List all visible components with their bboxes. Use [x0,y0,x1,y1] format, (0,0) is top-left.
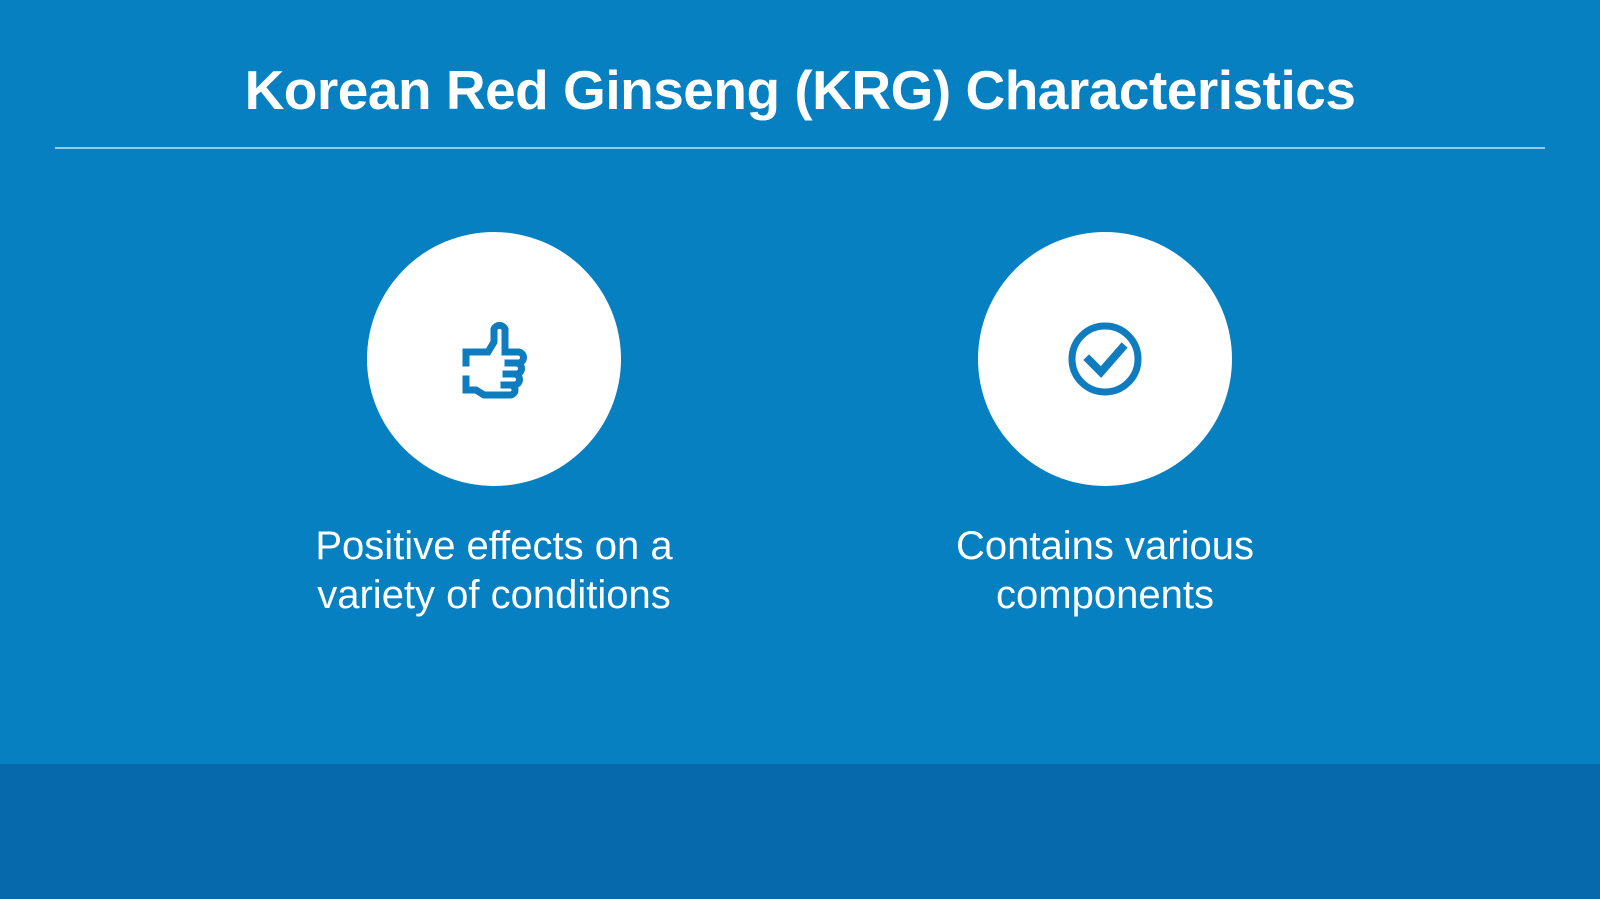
check-circle-icon [1063,317,1147,401]
card-caption: Contains various components [895,522,1315,620]
icon-circle-thumbs-up [367,232,621,486]
title-block: Korean Red Ginseng (KRG) Characteristics [0,62,1600,120]
content-cards: Positive effects on a variety of conditi… [0,232,1600,652]
footer-bar: Rosenberg, D., & Gershon, S. (2012). Pha… [0,764,1600,899]
card-positive-effects: Positive effects on a variety of conditi… [284,232,704,620]
title-divider [55,147,1545,149]
card-contains-components: Contains various components [895,232,1315,620]
card-caption: Positive effects on a variety of conditi… [284,522,704,620]
page-title: Korean Red Ginseng (KRG) Characteristics [0,62,1600,120]
slide-canvas: Korean Red Ginseng (KRG) Characteristics [0,0,1600,899]
icon-circle-check [978,232,1232,486]
thumbs-up-icon [446,311,542,407]
